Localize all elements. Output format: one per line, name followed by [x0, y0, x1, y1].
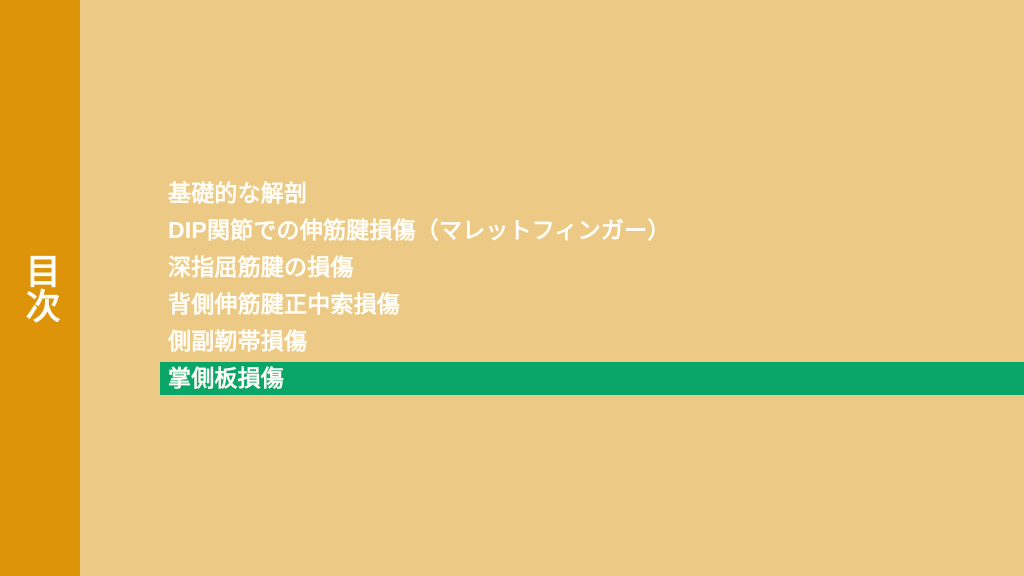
agenda-item-label: 背側伸筋腱正中索損傷	[168, 293, 400, 316]
agenda-item[interactable]: 基礎的な解剖	[0, 175, 1024, 212]
agenda-item[interactable]: 側副靭帯損傷	[0, 323, 1024, 360]
agenda-item-label: 掌側板損傷	[168, 367, 284, 390]
agenda-item-label: 側副靭帯損傷	[168, 330, 307, 353]
agenda-item-label: 深指屈筋腱の損傷	[168, 256, 354, 279]
agenda-item-label: 基礎的な解剖	[168, 182, 307, 205]
agenda-item[interactable]: 背側伸筋腱正中索損傷	[0, 286, 1024, 323]
agenda-item[interactable]: 深指屈筋腱の損傷	[0, 249, 1024, 286]
agenda-list: 基礎的な解剖DIP関節での伸筋腱損傷（マレットフィンガー）深指屈筋腱の損傷背側伸…	[0, 175, 1024, 397]
agenda-item-label: DIP関節での伸筋腱損傷（マレットフィンガー）	[168, 219, 670, 242]
agenda-item-highlight-bar	[160, 362, 1024, 395]
agenda-item[interactable]: 掌側板損傷	[0, 360, 1024, 397]
agenda-item[interactable]: DIP関節での伸筋腱損傷（マレットフィンガー）	[0, 212, 1024, 249]
presentation-slide: 目次 基礎的な解剖DIP関節での伸筋腱損傷（マレットフィンガー）深指屈筋腱の損傷…	[0, 0, 1024, 576]
